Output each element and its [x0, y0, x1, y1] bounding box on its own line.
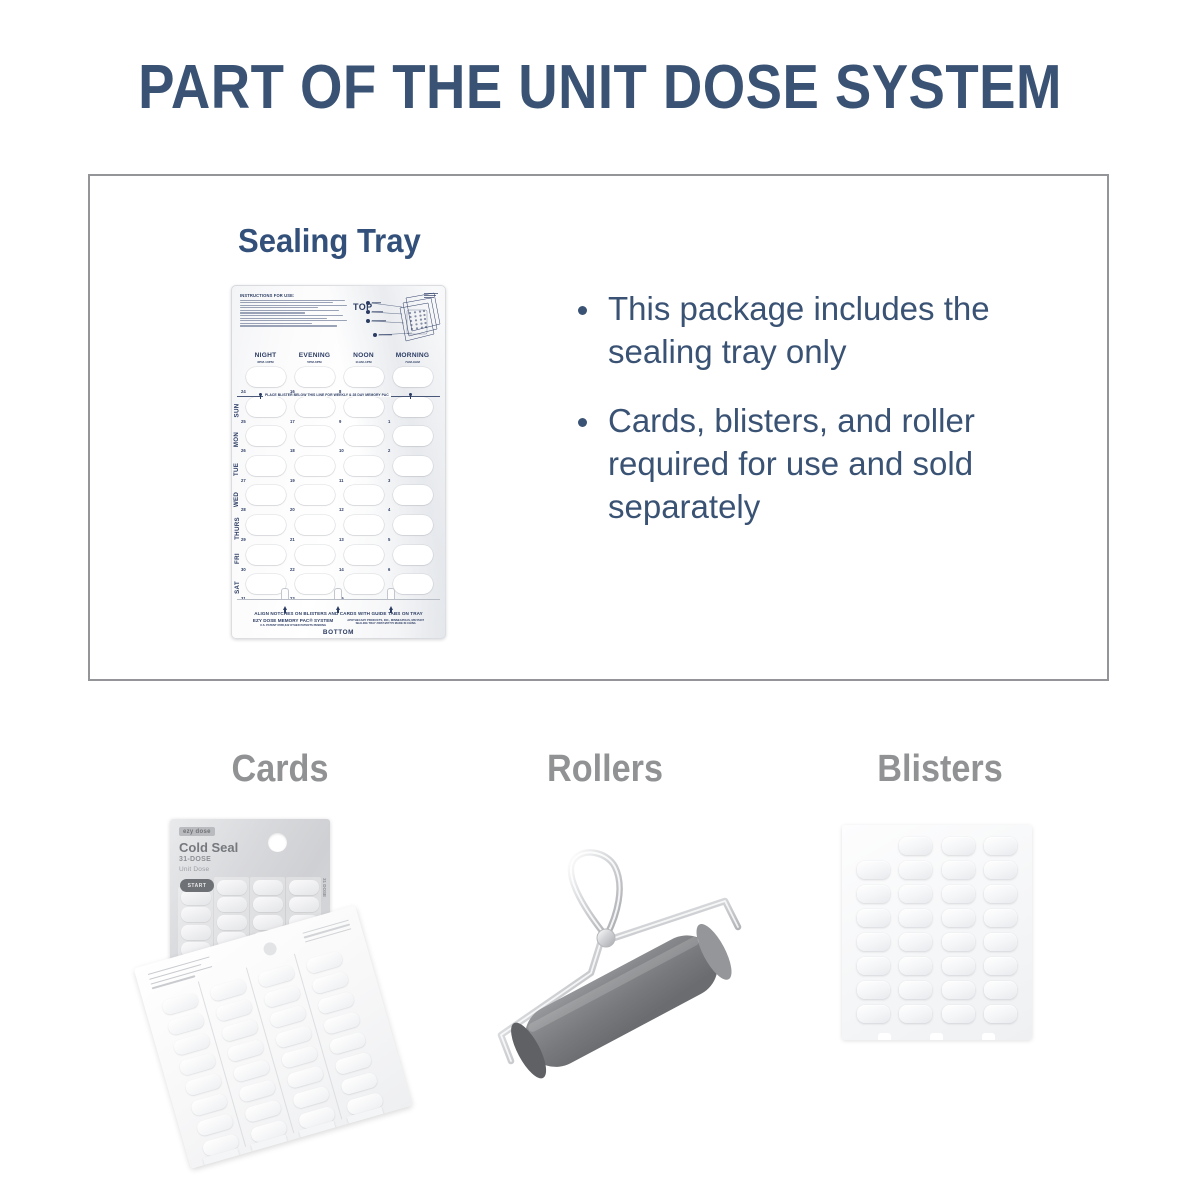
- blister-pocket: [984, 981, 1017, 999]
- tray-row: 3022146: [241, 544, 437, 574]
- tray-cell: 26: [241, 425, 290, 455]
- blister-row: [852, 858, 1022, 882]
- tray-row: 24168: [241, 366, 437, 396]
- blister-cell: [937, 978, 980, 1002]
- tray-pocket: [246, 367, 286, 387]
- tray-column-noon: NOON 11AM-1PM: [339, 352, 388, 364]
- product-image-cards: ezy dose Cold Seal 31-DOSE Unit Dose STA…: [100, 813, 460, 1143]
- tray-cell: 8: [339, 366, 388, 396]
- guide-tab: [387, 588, 395, 599]
- blister-cell: [895, 906, 938, 930]
- tray-footer: ALIGN NOTCHES ON BLISTERS AND CARDS WITH…: [231, 603, 446, 636]
- blister-cell: [895, 954, 938, 978]
- tray-cell-number: 22: [290, 567, 295, 572]
- tray-pocket: [393, 545, 433, 565]
- tray-cell-number: 13: [339, 537, 344, 542]
- blister-cell: [937, 906, 980, 930]
- tray-cell-number: 11: [339, 478, 343, 483]
- tray-pocket: [344, 545, 384, 565]
- blister-pocket: [899, 861, 932, 879]
- tray-row: 251791: [241, 396, 437, 426]
- tray-cell-number: 1: [388, 419, 390, 424]
- tray-cell: 21: [290, 514, 339, 544]
- tray-pocket: [246, 485, 286, 505]
- instruction-line: [240, 315, 343, 316]
- roller-illustration: [455, 823, 755, 1123]
- blister-cell: [895, 882, 938, 906]
- package-blister-pocket: [217, 880, 247, 895]
- blister-pocket: [857, 1005, 890, 1023]
- product-blisters: Blisters: [760, 748, 1120, 1200]
- tray-footer-arrows: [231, 603, 446, 610]
- instruction-line: [240, 302, 333, 303]
- tray-column-morning: MORNING 7AM-9AM: [388, 352, 437, 364]
- instruction-line: [240, 325, 337, 326]
- package-side-label: 31 DOSE: [322, 878, 327, 897]
- column-time: 6PM-10PM: [241, 360, 290, 364]
- tray-cell: 12: [339, 484, 388, 514]
- guide-tab: [281, 588, 289, 599]
- blister-cell: [980, 954, 1023, 978]
- tray-row: 2820124: [241, 484, 437, 514]
- blister-row: [852, 834, 1022, 858]
- tray-pocket: [246, 426, 286, 446]
- blister-row: [852, 882, 1022, 906]
- blister-notch: [878, 1033, 891, 1040]
- blister-cell: [852, 954, 895, 978]
- tray-cell: 16: [290, 366, 339, 396]
- package-blister-pocket: [181, 907, 211, 922]
- tray-cell-number: 19: [290, 478, 295, 483]
- blister-cell: [937, 930, 980, 954]
- tray-pocket: [246, 545, 286, 565]
- tray-pocket: [393, 515, 433, 535]
- up-arrow-icon: [336, 606, 340, 610]
- tray-pocket: [344, 367, 384, 387]
- product-rollers: Rollers: [425, 748, 785, 1200]
- product-image-rollers: [425, 813, 785, 1143]
- divider-pin-icon: [259, 393, 262, 399]
- tray-cell: 4: [388, 484, 437, 514]
- blister-cell: [980, 978, 1023, 1002]
- tray-instructions-title: INSTRUCTIONS FOR USE:: [240, 293, 348, 298]
- tray-cell: 3: [388, 455, 437, 485]
- related-products-row: Cards ezy dose Cold Seal 31-DOSE Unit Do…: [0, 748, 1200, 1200]
- tray-cell: 10: [339, 425, 388, 455]
- tray-instructions-block: INSTRUCTIONS FOR USE:: [240, 293, 348, 328]
- tray-day-label: THURS: [231, 514, 243, 544]
- tray-day-label: FRI: [231, 544, 243, 574]
- list-item: Cards, blisters, and roller required for…: [570, 400, 1080, 529]
- tray-cell: 13: [339, 514, 388, 544]
- blister-notch: [982, 1033, 995, 1040]
- instruction-line: [240, 307, 318, 308]
- tray-column-evening: EVENING 5PM-6PM: [290, 352, 339, 364]
- tray-cell: 9: [339, 396, 388, 426]
- blister-pocket: [899, 909, 932, 927]
- blister-pocket: [857, 957, 890, 975]
- blister-cell: [895, 834, 938, 858]
- tray-day-label: SUN: [231, 396, 243, 426]
- instruction-line: [240, 300, 345, 301]
- tray-guide-tabs: [241, 588, 437, 599]
- tray-cell: 25: [241, 396, 290, 426]
- product-title-rollers: Rollers: [443, 748, 767, 791]
- tray-cell: 27: [241, 455, 290, 485]
- blister-row: [852, 1002, 1022, 1026]
- tray-cell: 20: [290, 484, 339, 514]
- tray-pocket: [295, 515, 335, 535]
- blister-cell: [980, 834, 1023, 858]
- blister-pocket: [984, 837, 1017, 855]
- blister-pocket: [857, 885, 890, 903]
- divider-text: PLACE BLISTER BELOW THIS LINE FOR WEEKLY…: [263, 393, 391, 397]
- tray-pocket: [246, 456, 286, 476]
- tray-cell: 22: [290, 544, 339, 574]
- blister-cell: [895, 1002, 938, 1026]
- tray-footer-divider: [237, 599, 440, 600]
- tray-pocket: [344, 456, 384, 476]
- blister-pocket: [942, 957, 975, 975]
- tray-cell-number: 2: [388, 448, 390, 453]
- column-name: NIGHT: [241, 352, 290, 359]
- feature-bullet-list: This package includes the sealing tray o…: [570, 288, 1080, 528]
- blister-cell: [937, 1002, 980, 1026]
- tray-company-block: APOTHECARY PRODUCTS, INC., MINNEAPOLIS, …: [347, 618, 424, 627]
- blister-pocket: [857, 909, 890, 927]
- package-blister-pocket: [289, 880, 319, 895]
- tray-column-headers: NIGHT 6PM-10PM EVENING 5PM-6PM NOON 11AM…: [241, 352, 437, 364]
- tray-cell-number: 10: [339, 448, 344, 453]
- blister-pocket: [942, 981, 975, 999]
- blister-cell: [937, 882, 980, 906]
- blister-cell: [980, 882, 1023, 906]
- blister-pocket: [899, 981, 932, 999]
- tray-bottom-label: BOTTOM: [231, 629, 446, 636]
- column-time: 5PM-6PM: [290, 360, 339, 364]
- guide-tab: [334, 588, 342, 599]
- blister-cell: [852, 858, 895, 882]
- card-hang-hole: [262, 941, 278, 957]
- tray-day-label: WED: [231, 484, 243, 514]
- hang-hole: [268, 833, 287, 852]
- up-arrow-icon: [283, 606, 287, 610]
- tray-pocket-grid: 2416825179126181022719113282012429211353…: [241, 366, 437, 603]
- blister-cell: [852, 1002, 895, 1026]
- infographic-page: PART OF THE UNIT DOSE SYSTEM Sealing Tra…: [0, 0, 1200, 1200]
- column-name: EVENING: [290, 352, 339, 359]
- tray-assembly-diagram-icon: [362, 290, 442, 344]
- product-cards: Cards ezy dose Cold Seal 31-DOSE Unit Do…: [100, 748, 460, 1200]
- sealing-tray-panel: Sealing Tray INSTRUCTIONS FOR USE: TOP: [88, 174, 1109, 681]
- blister-pocket: [984, 933, 1017, 951]
- package-blister-pocket: [217, 915, 247, 930]
- tray-pocket: [295, 456, 335, 476]
- card-side-text-lines: [302, 920, 352, 946]
- instruction-line: [240, 310, 339, 311]
- blister-pocket: [942, 861, 975, 879]
- blister-cell: [980, 858, 1023, 882]
- blister-cell: [852, 978, 895, 1002]
- tray-cell: 1: [388, 396, 437, 426]
- blister-pocket: [984, 861, 1017, 879]
- tray-cell-number: 14: [339, 567, 344, 572]
- tray-cell: 17: [290, 396, 339, 426]
- blister-cell: [980, 1002, 1023, 1026]
- tray-pocket: [393, 426, 433, 446]
- blister-pocket: [984, 957, 1017, 975]
- column-name: MORNING: [388, 352, 437, 359]
- column-time: 7AM-9AM: [388, 360, 437, 364]
- blister-pocket: [942, 933, 975, 951]
- tray-cell-number: 17: [290, 419, 295, 424]
- tray-divider: PLACE BLISTER BELOW THIS LINE FOR WEEKLY…: [237, 393, 440, 400]
- package-blister-pocket: [289, 897, 319, 912]
- blister-cell: [852, 930, 895, 954]
- blister-cell: [852, 834, 895, 858]
- package-name: Cold Seal: [179, 840, 238, 855]
- tray-pocket: [344, 485, 384, 505]
- instruction-line: [240, 320, 347, 321]
- blister-pocket: [984, 909, 1017, 927]
- column-time: 11AM-1PM: [339, 360, 388, 364]
- blister-sheet: [842, 825, 1032, 1040]
- package-blister-pocket: [217, 897, 247, 912]
- tray-brand-block: EZY DOSE MEMORY PAC® SYSTEM U.S. PATENT …: [253, 618, 333, 627]
- tray-patent: U.S. PATENT D585,632 OTHER PATENTS PENDI…: [253, 624, 333, 627]
- blister-cell: [895, 978, 938, 1002]
- ezy-dose-logo: ezy dose: [179, 827, 215, 836]
- blister-pocket: [942, 909, 975, 927]
- sealing-tray-image: INSTRUCTIONS FOR USE: TOP: [231, 285, 446, 639]
- blister-pocket: [857, 861, 890, 879]
- package-subtitle: Unit Dose: [179, 866, 209, 873]
- text-line: [148, 956, 210, 975]
- tray-day-label: TUE: [231, 455, 243, 485]
- tray-row: 2921135: [241, 514, 437, 544]
- tray-pocket: [295, 545, 335, 565]
- package-dose-count: 31-DOSE: [179, 856, 211, 863]
- tray-cell: 28: [241, 484, 290, 514]
- tray-cell-number: 6: [388, 567, 390, 572]
- tray-row: 2719113: [241, 455, 437, 485]
- blister-row: [852, 906, 1022, 930]
- tray-cell: 24: [241, 366, 290, 396]
- tray-cell-number: 18: [290, 448, 295, 453]
- tray-cell: 11: [339, 455, 388, 485]
- blister-cell: [937, 954, 980, 978]
- tray-footer-columns: EZY DOSE MEMORY PAC® SYSTEM U.S. PATENT …: [231, 618, 446, 627]
- product-title-blisters: Blisters: [778, 748, 1102, 791]
- blister-row: [852, 954, 1022, 978]
- tray-pocket: [344, 515, 384, 535]
- blister-cell: [895, 930, 938, 954]
- tray-column-night: NIGHT 6PM-10PM: [241, 352, 290, 364]
- tray-pocket: [393, 456, 433, 476]
- product-image-blisters: [760, 813, 1120, 1143]
- tray-pocket: [344, 426, 384, 446]
- instruction-line: [240, 323, 312, 324]
- tray-cell-number: 12: [339, 507, 344, 512]
- tray-cell: 29: [241, 514, 290, 544]
- tray-cell: 2: [388, 425, 437, 455]
- tray-brand: EZY DOSE MEMORY PAC® SYSTEM: [253, 618, 333, 623]
- blister-pocket: [857, 933, 890, 951]
- tray-day-label: MON: [231, 425, 243, 455]
- blister-pocket: [942, 1005, 975, 1023]
- tray-cell-number: 5: [388, 537, 390, 542]
- blister-pocket: [857, 981, 890, 999]
- blister-row: [852, 930, 1022, 954]
- column-name: NOON: [339, 352, 388, 359]
- blister-cell: [980, 930, 1023, 954]
- instruction-line: [240, 305, 347, 306]
- tray-cell-number: 21: [290, 537, 295, 542]
- blister-cell: [937, 834, 980, 858]
- tray-cell: 14: [339, 544, 388, 574]
- blister-pocket: [899, 933, 932, 951]
- tray-cell: 6: [388, 544, 437, 574]
- blister-cell: [980, 906, 1023, 930]
- instruction-line: [240, 312, 305, 313]
- tray-cell: [388, 366, 437, 396]
- tray-pocket: [393, 485, 433, 505]
- blister-pocket: [899, 1005, 932, 1023]
- tray-cell-number: 9: [339, 419, 341, 424]
- tray-pocket: [295, 367, 335, 387]
- package-blister-pocket: [253, 880, 283, 895]
- tray-cell: 30: [241, 544, 290, 574]
- instruction-line: [240, 318, 327, 319]
- tray-cell-number: 20: [290, 507, 295, 512]
- page-title: PART OF THE UNIT DOSE SYSTEM: [72, 52, 1128, 123]
- blister-pocket: [984, 885, 1017, 903]
- package-blister-pocket: [253, 897, 283, 912]
- tray-cell-number: 4: [388, 507, 390, 512]
- panel-heading: Sealing Tray: [238, 222, 421, 260]
- tray-cell: 18: [290, 425, 339, 455]
- blister-cell: [852, 882, 895, 906]
- tray-row: 2618102: [241, 425, 437, 455]
- blister-row: [852, 978, 1022, 1002]
- list-item: This package includes the sealing tray o…: [570, 288, 1080, 374]
- blister-cell: [937, 858, 980, 882]
- up-arrow-icon: [389, 606, 393, 610]
- blister-pocket: [942, 837, 975, 855]
- tray-pocket: [295, 485, 335, 505]
- blister-pocket: [942, 885, 975, 903]
- blister-pocket: [899, 885, 932, 903]
- tray-day-labels: SUNMONTUEWEDTHURSFRISAT: [231, 396, 243, 603]
- tray-cell: 5: [388, 514, 437, 544]
- product-title-cards: Cards: [118, 748, 442, 791]
- blister-pocket: [984, 1005, 1017, 1023]
- blister-notch: [930, 1033, 943, 1040]
- divider-pin-icon: [409, 393, 412, 399]
- blister-cell: [852, 906, 895, 930]
- start-marker: START: [180, 879, 214, 892]
- blister-cell: [895, 858, 938, 882]
- package-blister-pocket: [181, 925, 211, 940]
- tray-pocket: [393, 367, 433, 387]
- tray-origin: SEALING TRAY #00674/67770 MADE IN CHINA: [347, 622, 424, 625]
- blister-pocket: [899, 957, 932, 975]
- tray-cell: 19: [290, 455, 339, 485]
- blister-pocket: [899, 837, 932, 855]
- tray-cell-number: 3: [388, 478, 390, 483]
- tray-pocket: [295, 426, 335, 446]
- tray-pocket: [246, 515, 286, 535]
- blister-pocket-grid: [852, 834, 1022, 1026]
